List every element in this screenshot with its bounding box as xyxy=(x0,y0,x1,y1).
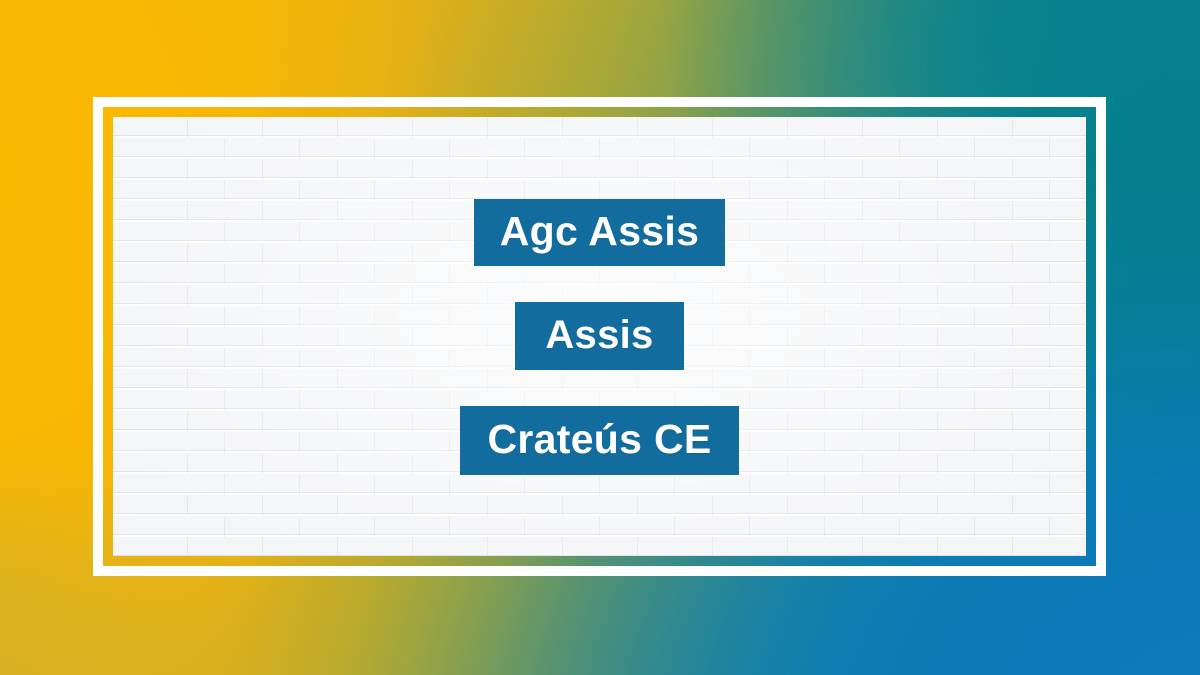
badge-stack: Agc Assis Assis Crateús CE xyxy=(460,199,738,475)
badge-title-secondary: Assis xyxy=(515,302,683,370)
brick-panel: Agc Assis Assis Crateús CE xyxy=(113,117,1086,556)
poster-canvas: Agc Assis Assis Crateús CE xyxy=(0,0,1200,675)
white-frame-border: Agc Assis Assis Crateús CE xyxy=(93,97,1106,576)
badge-title-primary: Agc Assis xyxy=(474,199,725,266)
badge-title-location: Crateús CE xyxy=(460,406,738,475)
